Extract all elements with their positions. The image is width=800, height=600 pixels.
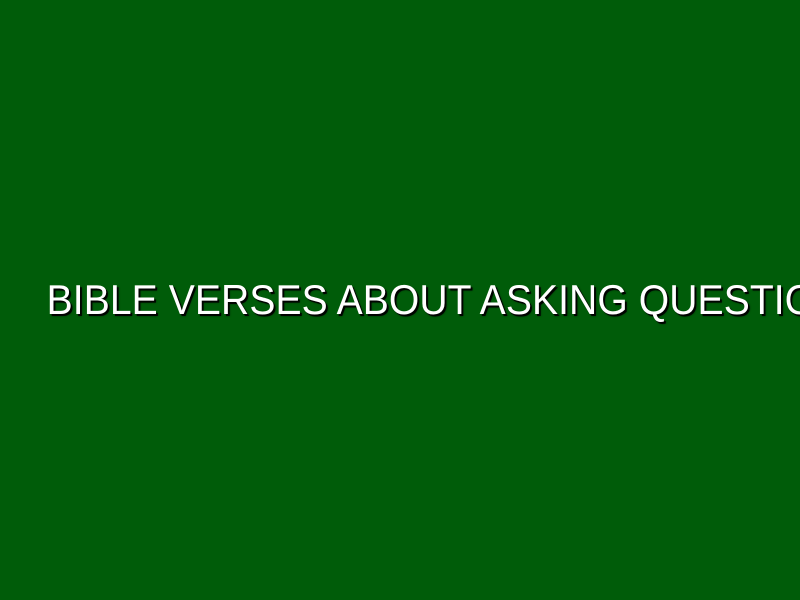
title-block: BIBLE VERSES ABOUT ASKING QUESTIONS: [0, 276, 800, 324]
featured-image-banner: BIBLE VERSES ABOUT ASKING QUESTIONS: [0, 0, 800, 600]
banner-title: BIBLE VERSES ABOUT ASKING QUESTIONS: [47, 276, 754, 324]
